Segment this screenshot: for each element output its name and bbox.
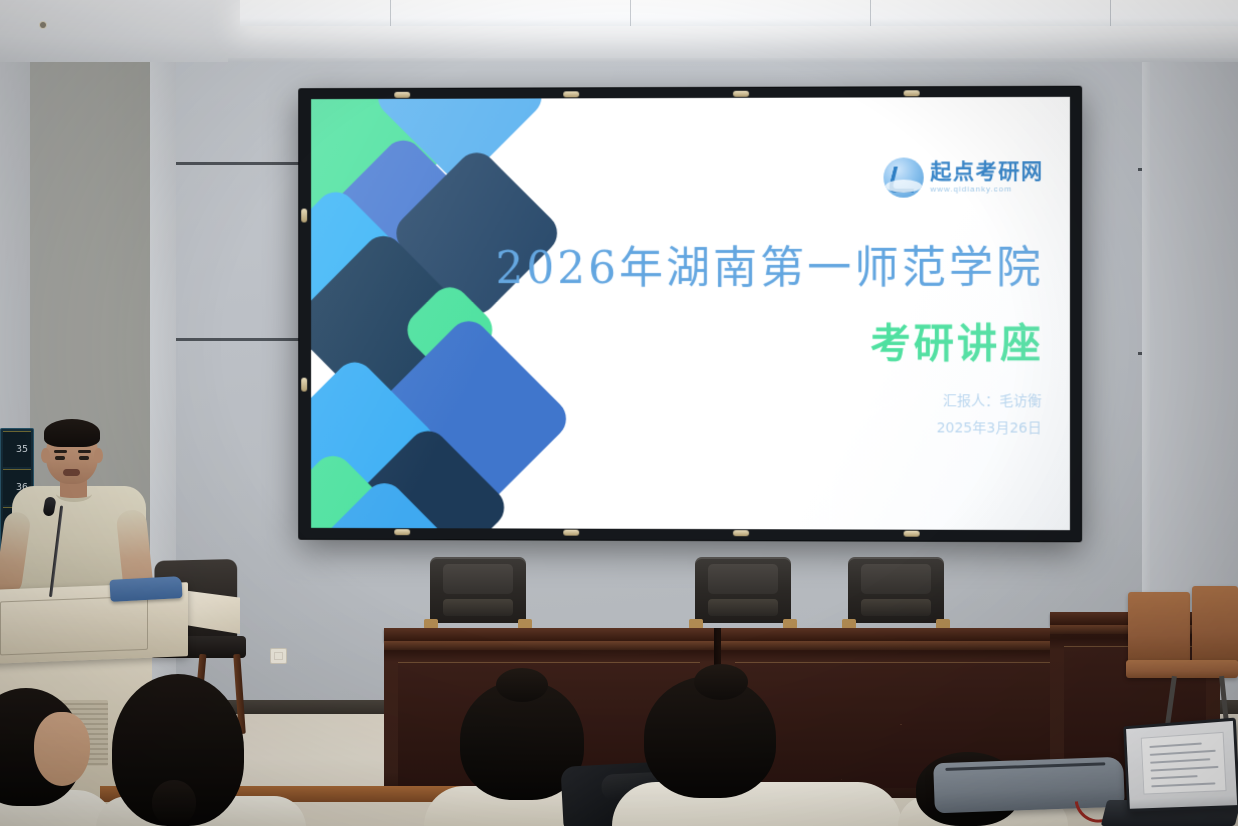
laptop-document	[1141, 732, 1227, 795]
screen-mount-bolt	[563, 530, 579, 536]
screen-mount-bolt	[563, 91, 579, 97]
wall-seam-lower-mid	[176, 338, 304, 341]
presenter-brow	[78, 450, 91, 453]
presenter-collar	[56, 486, 92, 502]
slide-presenter: 汇报人：毛访衡	[936, 388, 1041, 415]
screen-mount-bolt	[904, 531, 920, 537]
audience-member-hair-bun	[496, 668, 548, 702]
podium-drawer[interactable]	[0, 596, 148, 656]
brand-logo: 起点考研网 www.qidianky.com	[883, 157, 1044, 197]
wall-switch-plate-icon[interactable]	[270, 648, 287, 664]
slide-title-main: 2026年湖南第一师范学院	[468, 244, 1044, 295]
number-cell: 35	[3, 431, 31, 467]
screen-mount-bolt	[301, 378, 307, 392]
brand-url: www.qidianky.com	[930, 185, 1043, 193]
led-display-screen[interactable]: 起点考研网 www.qidianky.com 2026年湖南第一师范学院 考研讲…	[299, 87, 1081, 541]
ceiling-light-strip	[240, 0, 1238, 26]
screen-mount-bolt	[733, 530, 749, 536]
screen-display-area: 起点考研网 www.qidianky.com 2026年湖南第一师范学院 考研讲…	[311, 97, 1070, 530]
slide-date: 2025年3月26日	[936, 415, 1041, 442]
stage-chair[interactable]	[695, 557, 791, 623]
presentation-slide: 起点考研网 www.qidianky.com 2026年湖南第一师范学院 考研讲…	[311, 97, 1070, 530]
podium-lock-icon	[40, 22, 46, 28]
audience-member-ponytail	[152, 780, 196, 826]
presenter-ear	[94, 448, 103, 463]
presenter-mouth	[63, 469, 80, 476]
audience-member-face	[34, 712, 90, 786]
slide-title-block: 2026年湖南第一师范学院 考研讲座	[468, 244, 1044, 369]
stage-chair[interactable]	[430, 557, 526, 623]
screen-mount-bolt	[394, 529, 410, 535]
slide-meta-block: 汇报人：毛访衡 2025年3月26日	[936, 388, 1041, 442]
screen-mount-bolt	[904, 90, 920, 96]
slide-title-sub: 考研讲座	[468, 311, 1044, 369]
blue-cloth	[109, 576, 182, 602]
brand-name: 起点考研网	[930, 161, 1043, 182]
laptop-screen[interactable]	[1123, 718, 1238, 812]
stage-chair[interactable]	[848, 557, 944, 623]
wall-seam-upper-mid	[176, 162, 304, 165]
presenter-ear	[41, 448, 50, 463]
presenter-hair	[44, 419, 100, 447]
lecture-hall-scene: 起点考研网 www.qidianky.com 2026年湖南第一师范学院 考研讲…	[0, 0, 1238, 826]
audience-member-hair-bun	[694, 664, 748, 700]
wooden-seat-back[interactable]	[1128, 592, 1190, 664]
wooden-seat-back[interactable]	[1192, 586, 1238, 664]
presenter-eye	[79, 456, 89, 460]
audience-member-body	[612, 782, 902, 826]
presenter-brow	[54, 450, 67, 453]
sleeve-zipper	[945, 762, 1105, 771]
screen-mount-bolt	[301, 209, 307, 223]
globe-swoosh-icon	[883, 157, 923, 197]
presenter-eye	[55, 456, 65, 460]
screen-mount-bolt	[394, 92, 410, 98]
screen-mount-bolt	[733, 91, 749, 97]
